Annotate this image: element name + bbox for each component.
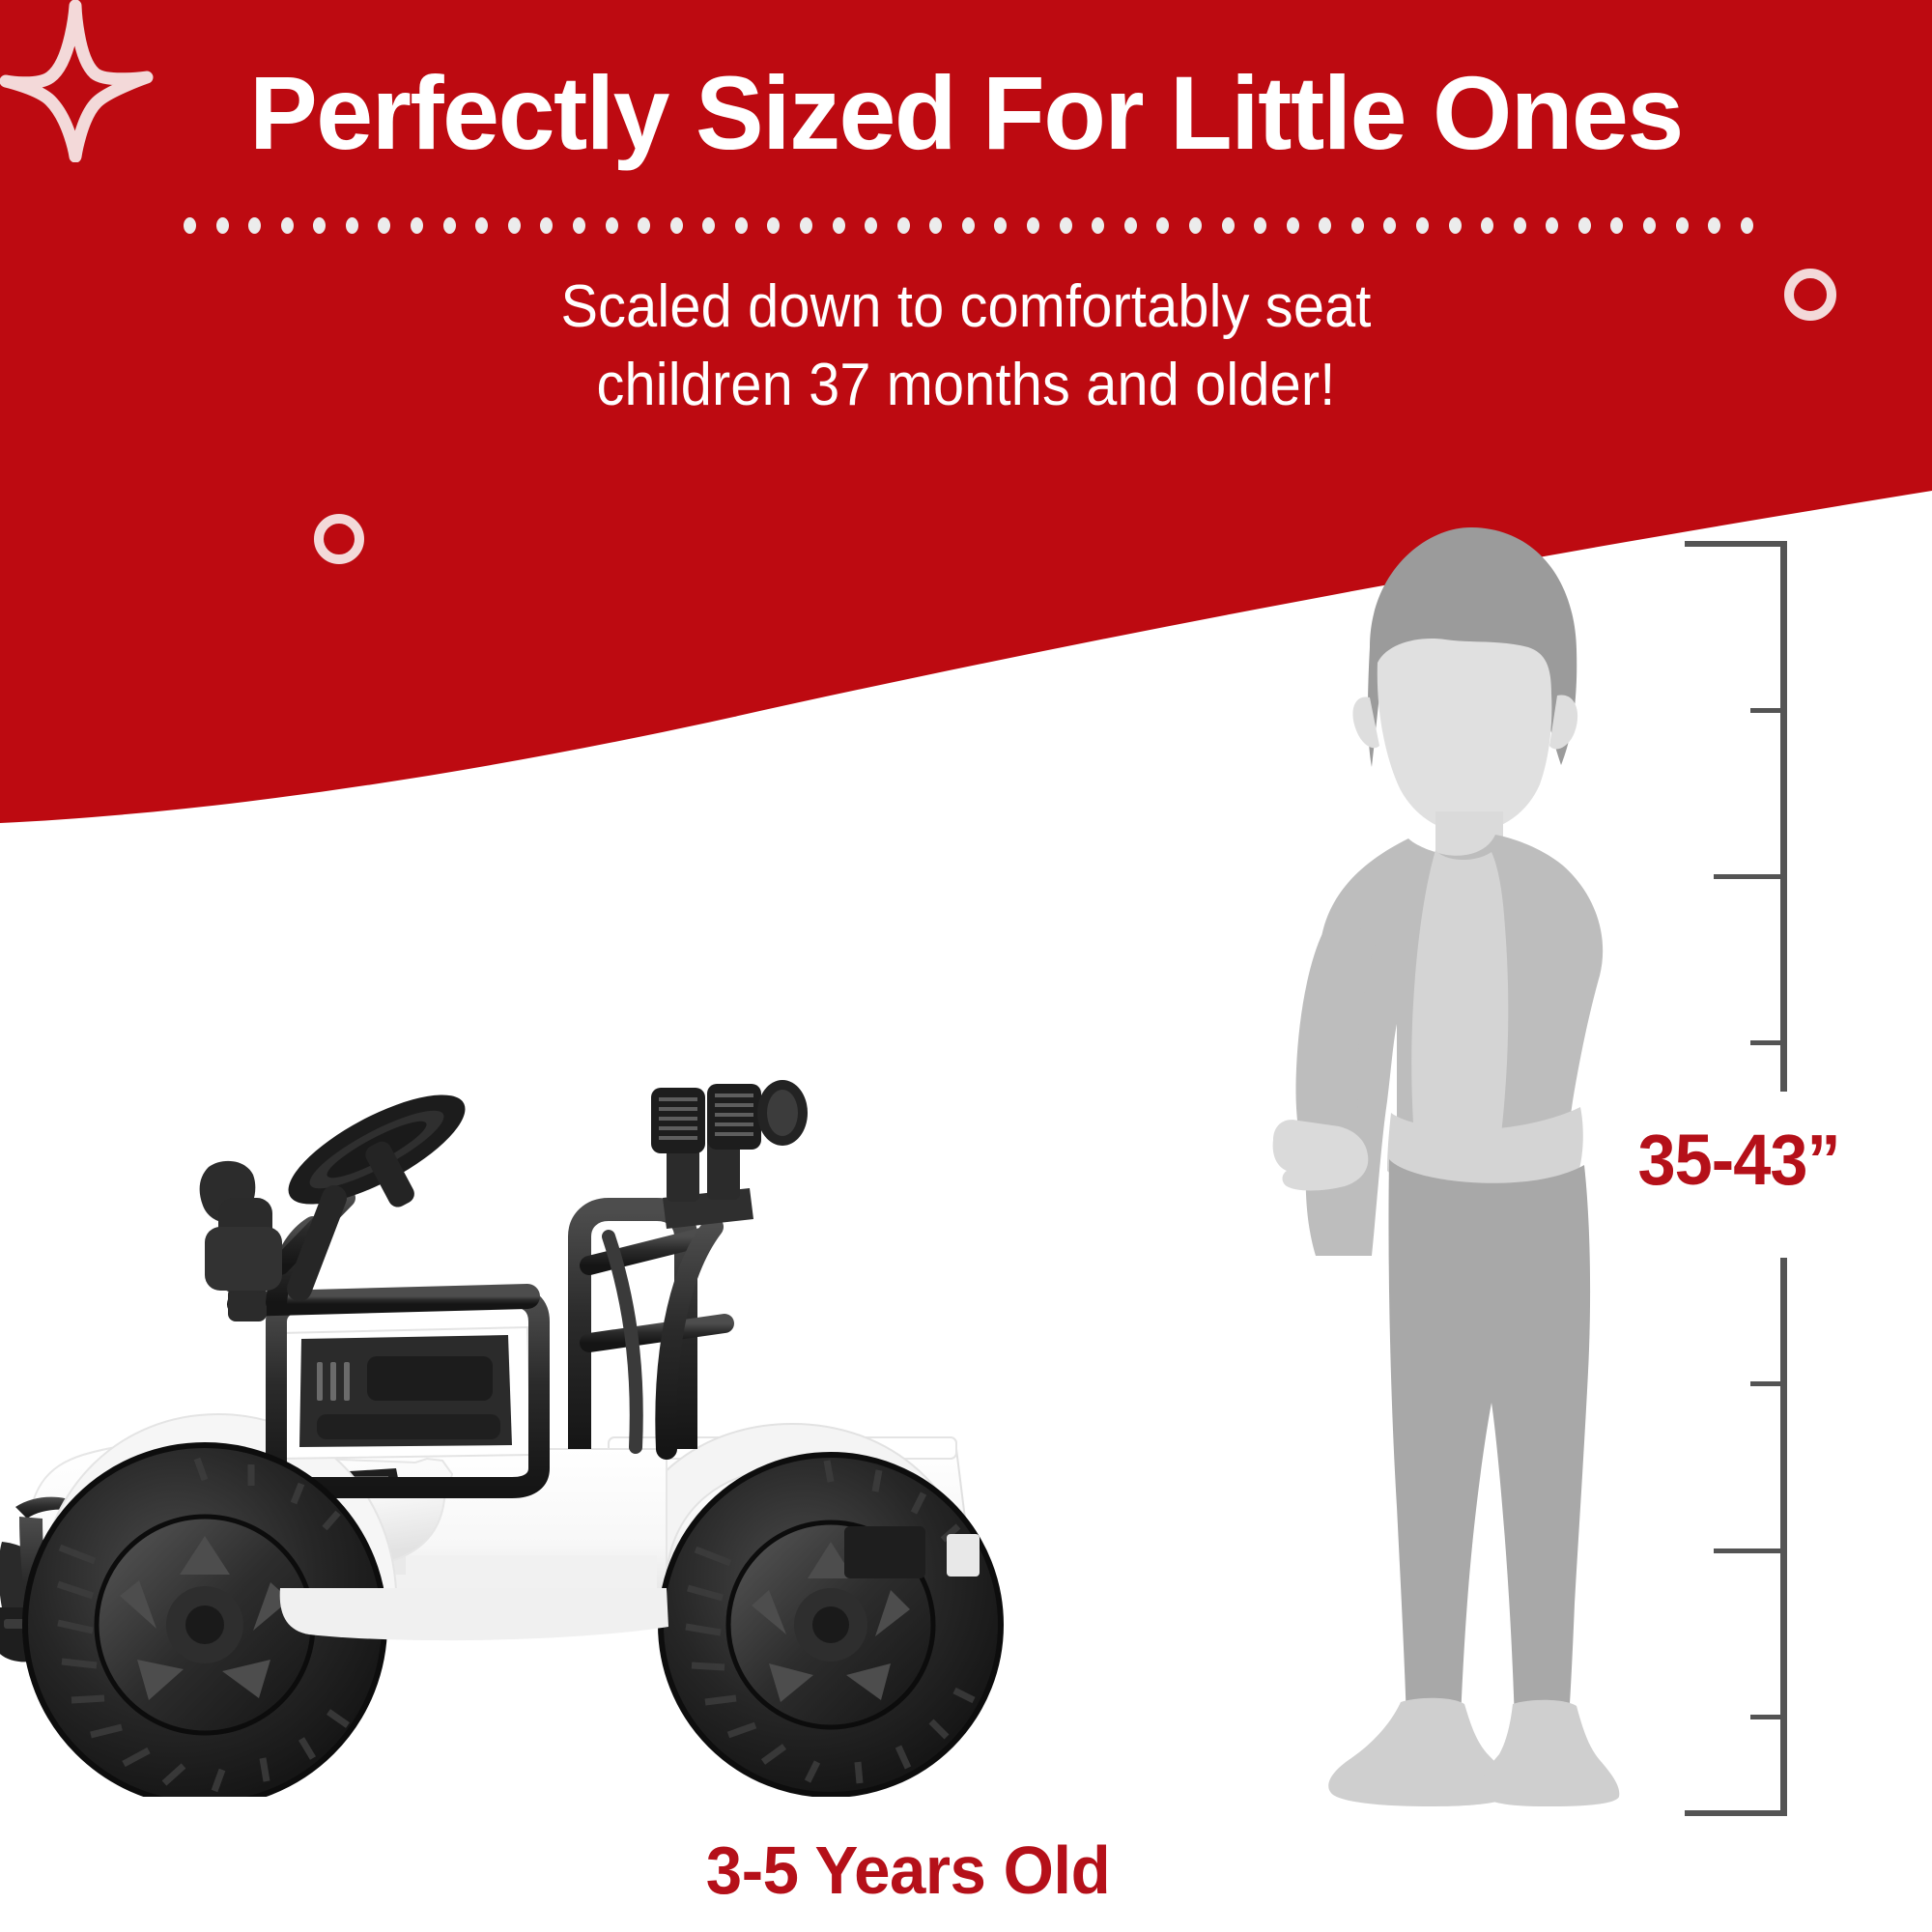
divider-dot xyxy=(865,217,877,234)
divider-dot xyxy=(1254,217,1266,234)
banner-content: Perfectly Sized For Little Ones Scaled d… xyxy=(0,0,1932,502)
divider-dot xyxy=(1287,217,1299,234)
jeep-roof-lights xyxy=(651,1080,808,1153)
divider-dot xyxy=(281,217,294,234)
divider-dot xyxy=(573,217,585,234)
divider-dot xyxy=(1416,217,1429,234)
jeep-door-panel xyxy=(278,1327,531,1459)
divider-dot xyxy=(1124,217,1137,234)
divider-dot xyxy=(1514,217,1526,234)
divider-dot xyxy=(216,217,229,234)
subtitle-line-2: children 37 months and older! xyxy=(68,347,1864,425)
divider-dot xyxy=(1222,217,1235,234)
divider-dot xyxy=(670,217,683,234)
divider-dot xyxy=(1449,217,1462,234)
divider-dot xyxy=(1319,217,1331,234)
page-title: Perfectly Sized For Little Ones xyxy=(19,58,1913,167)
divider-dot xyxy=(1092,217,1104,234)
divider-dot xyxy=(1481,217,1493,234)
ride-on-jeep-truck xyxy=(0,908,1207,1797)
divider-dot xyxy=(929,217,942,234)
divider-dot xyxy=(800,217,812,234)
divider-dot xyxy=(1189,217,1202,234)
ruler-spine-upper xyxy=(1780,541,1787,831)
ruler-spine-upper2 xyxy=(1780,821,1787,1092)
jeep-rear-wheel xyxy=(661,1455,1001,1795)
jeep-roll-cage xyxy=(531,1130,753,1449)
divider-dot xyxy=(1156,217,1169,234)
age-range-label: 3-5 Years Old xyxy=(37,1832,1780,1909)
divider-dot xyxy=(411,217,423,234)
divider-dot xyxy=(1060,217,1072,234)
divider-dot xyxy=(994,217,1007,234)
subtitle-line-1: Scaled down to comfortably seat xyxy=(68,269,1864,347)
dotted-divider xyxy=(184,216,1753,234)
divider-dot xyxy=(1383,217,1396,234)
divider-dot xyxy=(540,217,553,234)
divider-dot xyxy=(184,217,196,234)
divider-dot xyxy=(443,217,456,234)
divider-dot xyxy=(1578,217,1591,234)
ruler-spine-lower xyxy=(1780,1258,1787,1816)
divider-dot xyxy=(248,217,261,234)
divider-dot xyxy=(638,217,650,234)
divider-dot xyxy=(1027,217,1039,234)
divider-dot xyxy=(1643,217,1656,234)
height-range-label: 35-43” xyxy=(1638,1119,1840,1201)
ruler-tick-long xyxy=(1685,541,1787,547)
divider-dot xyxy=(1610,217,1623,234)
ruler-tick-short xyxy=(1750,1381,1787,1386)
ring-icon-right xyxy=(1784,269,1836,321)
jeep-steering-wheel xyxy=(200,1074,493,1302)
divider-dot xyxy=(1708,217,1720,234)
child-silhouette xyxy=(1256,522,1662,1806)
divider-dot xyxy=(1676,217,1689,234)
ruler-tick-long xyxy=(1685,1810,1787,1816)
divider-dot xyxy=(346,217,358,234)
divider-dot xyxy=(897,217,910,234)
divider-dot xyxy=(313,217,326,234)
divider-dot xyxy=(606,217,618,234)
divider-dot xyxy=(767,217,780,234)
divider-dot xyxy=(1741,217,1753,234)
ruler-tick-short xyxy=(1750,708,1787,713)
ruler-tick-short xyxy=(1750,1715,1787,1719)
sparkle-icon xyxy=(0,0,155,162)
subtitle: Scaled down to comfortably seat children… xyxy=(68,269,1864,424)
divider-dot xyxy=(475,217,488,234)
ruler-tick-medium xyxy=(1714,1548,1787,1553)
divider-dot xyxy=(702,217,715,234)
divider-dot xyxy=(1351,217,1364,234)
ruler-tick-medium xyxy=(1714,874,1787,879)
divider-dot xyxy=(378,217,390,234)
divider-dot xyxy=(508,217,521,234)
divider-dot xyxy=(833,217,845,234)
divider-dot xyxy=(1546,217,1558,234)
ring-icon-left xyxy=(314,514,364,564)
divider-dot xyxy=(735,217,748,234)
divider-dot xyxy=(962,217,975,234)
